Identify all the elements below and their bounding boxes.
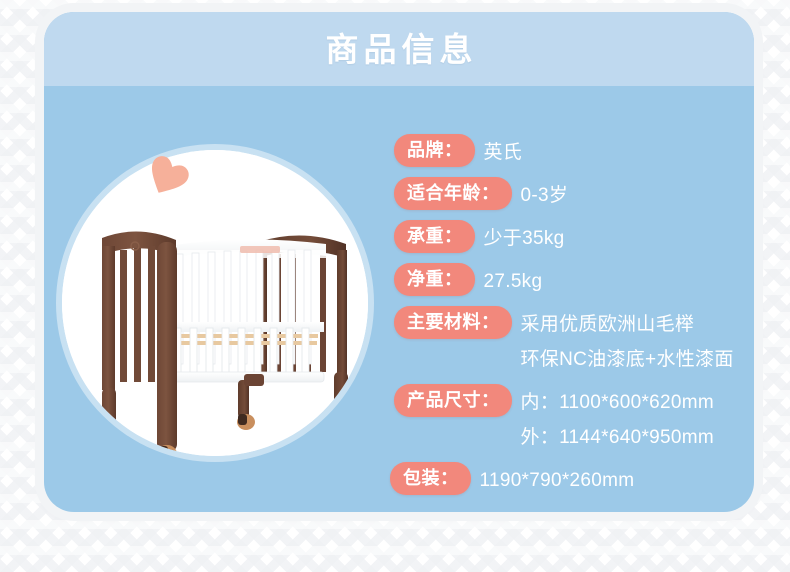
spec-value-dimensions-outer: 外：1144*640*950mm [521,422,745,453]
spec-label-packaging: 包装： [390,462,471,495]
spec-row-load-capacity: 承重： 少于35kg [394,220,744,254]
spec-row-dimensions: 产品尺寸： 内：1100*600*620mm 外：1144*640*950mm [394,384,744,453]
spec-values-age: 0-3岁 [512,177,745,211]
spec-values-net-weight: 27.5kg [475,263,745,297]
spec-row-brand: 品牌： 英氏 [394,134,744,168]
spec-label-net-weight: 净重： [394,263,475,296]
spec-values-packaging: 1190*790*260mm [471,462,745,496]
spec-value-age: 0-3岁 [521,180,745,211]
spec-values-material: 采用优质欧洲山毛榉 环保NC油漆底+水性漆面 [512,306,745,375]
spec-value-brand: 英氏 [484,137,745,168]
spec-values-brand: 英氏 [475,134,745,168]
card-header: 商品信息 [44,12,754,86]
product-info-card: 商品信息 [44,12,754,512]
spec-row-net-weight: 净重： 27.5kg [394,263,744,297]
spec-row-age: 适合年龄： 0-3岁 [394,177,744,211]
spec-label-age: 适合年龄： [394,177,512,210]
spec-value-net-weight: 27.5kg [484,266,745,297]
spec-values-load-capacity: 少于35kg [475,220,745,254]
spec-values-dimensions: 内：1100*600*620mm 外：1144*640*950mm [512,384,745,453]
spec-value-material-line-1: 采用优质欧洲山毛榉 [521,309,745,340]
spec-value-material-line-2: 环保NC油漆底+水性漆面 [521,344,745,375]
spec-label-dimensions: 产品尺寸： [394,384,512,417]
specification-list: 品牌： 英氏 适合年龄： 0-3岁 承重： 少于35kg 净重： 27.5kg … [394,134,744,505]
baby-crib-illustration [62,150,368,456]
spec-label-material: 主要材料： [394,306,512,339]
spec-label-brand: 品牌： [394,134,475,167]
product-photo [62,150,368,456]
spec-value-packaging: 1190*790*260mm [480,465,745,496]
spec-value-load-capacity: 少于35kg [484,223,745,254]
spec-value-dimensions-inner: 内：1100*600*620mm [521,387,745,418]
spec-row-packaging: 包装： 1190*790*260mm [390,462,744,496]
page-title: 商品信息 [321,33,478,66]
spec-row-material: 主要材料： 采用优质欧洲山毛榉 环保NC油漆底+水性漆面 [394,306,744,375]
spec-label-load-capacity: 承重： [394,220,475,253]
